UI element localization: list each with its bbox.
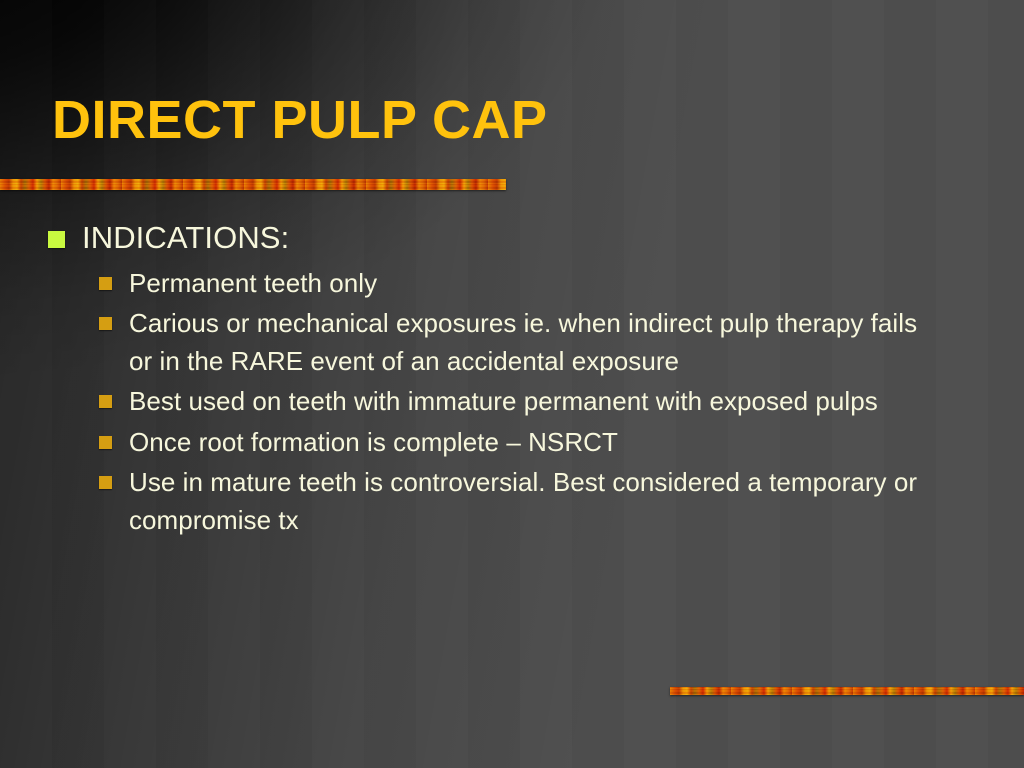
- bottom-divider-bar-icon: [670, 687, 1024, 695]
- list-item: Use in mature teeth is controversial. Be…: [0, 463, 1024, 539]
- list-item: INDICATIONS:: [0, 218, 1024, 258]
- list-item: Once root formation is complete – NSRCT: [0, 423, 1024, 461]
- presentation-slide: DIRECT PULP CAP INDICATIONS: Permanent t…: [0, 0, 1024, 768]
- list-item-label: INDICATIONS:: [82, 218, 289, 258]
- square-bullet-amber-icon: [99, 317, 112, 330]
- slide-title: DIRECT PULP CAP: [52, 92, 548, 149]
- square-bullet-amber-icon: [99, 436, 112, 449]
- top-divider-bar-icon: [0, 179, 506, 190]
- list-item-label: Permanent teeth only: [129, 264, 377, 302]
- list-item: Carious or mechanical exposures ie. when…: [0, 304, 1024, 380]
- list-item-label: Use in mature teeth is controversial. Be…: [129, 463, 941, 539]
- list-item-label: Best used on teeth with immature permane…: [129, 382, 878, 420]
- square-bullet-amber-icon: [99, 476, 112, 489]
- list-item: Permanent teeth only: [0, 264, 1024, 302]
- square-bullet-amber-icon: [99, 277, 112, 290]
- slide-body: INDICATIONS: Permanent teeth only Cariou…: [0, 218, 1024, 541]
- list-item-label: Carious or mechanical exposures ie. when…: [129, 304, 941, 380]
- square-bullet-green-icon: [48, 231, 65, 248]
- square-bullet-amber-icon: [99, 395, 112, 408]
- list-item: Best used on teeth with immature permane…: [0, 382, 1024, 420]
- list-item-label: Once root formation is complete – NSRCT: [129, 423, 618, 461]
